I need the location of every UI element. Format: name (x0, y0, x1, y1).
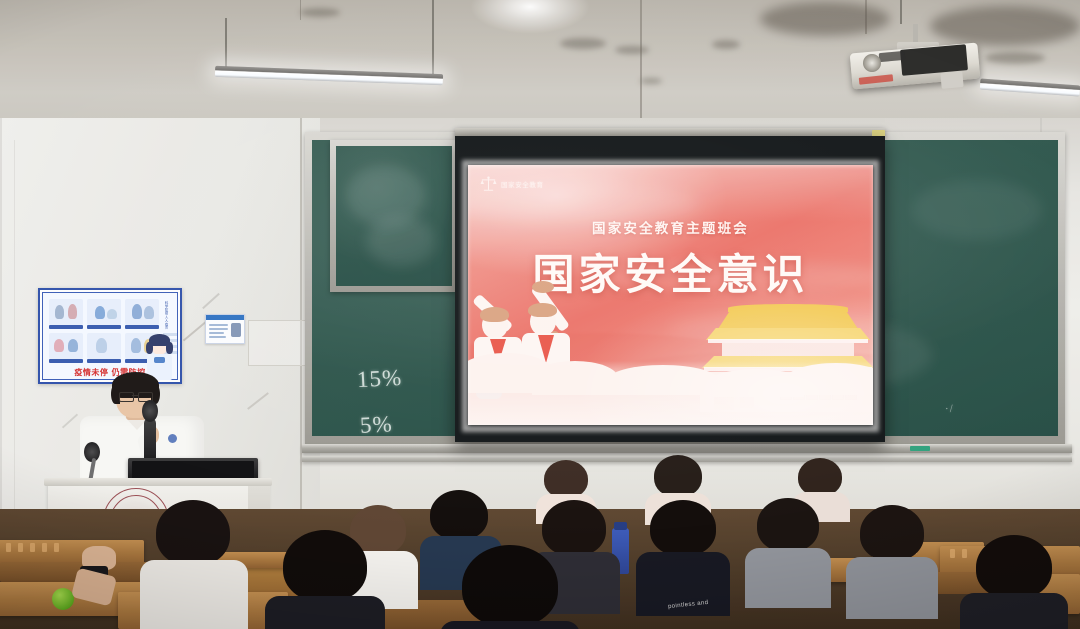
poster-cell (87, 299, 121, 325)
handheld-microphone[interactable] (144, 418, 156, 460)
lamp-rod (225, 18, 227, 72)
notice-line (209, 332, 224, 334)
monitor-screen (132, 461, 254, 479)
presentation-slide: 国家安全教育 国家安全教育主题班会 国家安全意识 (468, 165, 873, 425)
poster-caption (125, 325, 159, 329)
eyeglasses-bridge (132, 395, 138, 396)
student (745, 498, 831, 606)
notice-header (206, 315, 244, 320)
wall-edge (0, 118, 2, 538)
slide-logo: 国家安全教育 (480, 175, 544, 193)
student-head (156, 500, 230, 566)
notice-photo (231, 323, 241, 337)
ceiling-stain (640, 78, 662, 84)
student-head (650, 500, 716, 556)
bench-slat (18, 543, 23, 552)
poster-cell (49, 333, 83, 359)
slide-subtitle: 国家安全教育主题班会 (468, 217, 873, 237)
bench-slat (950, 549, 955, 558)
scales-of-justice-icon (480, 175, 497, 193)
blackboard-panel[interactable] (336, 146, 452, 286)
notice-line (209, 324, 228, 326)
student-head (462, 545, 558, 627)
shirt-logo (168, 434, 177, 443)
chalk-eraser[interactable] (910, 446, 930, 451)
eyeglasses (119, 392, 134, 402)
microphone-head (142, 400, 158, 422)
poster-caption (87, 325, 121, 329)
poster-caption (49, 359, 83, 363)
lamp-rod (432, 0, 434, 78)
projector-bracket (940, 71, 963, 89)
poster-caption (49, 325, 83, 329)
poster-side-note: 科学防疫 人人有责 (163, 301, 168, 329)
lectern-top (44, 478, 272, 486)
student-body (960, 593, 1068, 629)
poster-cell (49, 299, 83, 325)
ceiling-stain (560, 38, 606, 49)
bench-slat (42, 543, 47, 552)
poster-caption (87, 359, 121, 363)
student (960, 535, 1068, 629)
ceiling-projector (845, 24, 995, 104)
student-head (860, 505, 924, 561)
poster-cell (87, 333, 121, 359)
lamp-glow (470, 0, 590, 34)
ceiling-seam (640, 0, 642, 118)
lecture-hall-photo: 15% 5% ·/ (0, 0, 1080, 629)
projector-lens (863, 54, 881, 72)
green-ball[interactable] (52, 588, 74, 610)
ceiling-stain (712, 40, 740, 49)
student-body (140, 560, 248, 629)
wall-edge (14, 140, 15, 520)
student-body (745, 548, 831, 608)
chalk-note: 15% (356, 365, 402, 393)
wall-frame (248, 320, 306, 366)
notice-line (209, 336, 226, 338)
student-head (544, 460, 588, 498)
notice-line (209, 328, 228, 330)
ceiling-stain (615, 46, 649, 54)
lamp-rod (900, 0, 902, 24)
slide-logo-label: 国家安全教育 (501, 179, 544, 189)
student-head (757, 498, 819, 552)
student-head (654, 455, 702, 497)
student-head (430, 490, 488, 540)
bench-slat (30, 543, 35, 552)
student (140, 500, 248, 629)
poster-cell (125, 299, 159, 325)
chalk-mark: ·/ (945, 403, 954, 415)
cloud (532, 361, 618, 395)
student-body (265, 596, 385, 629)
chalk-rail (302, 444, 1072, 453)
bench-slat (6, 543, 11, 552)
student-body (846, 557, 938, 619)
student (265, 530, 385, 629)
student (440, 545, 580, 629)
cloud (608, 365, 718, 395)
student-body (440, 621, 580, 629)
information-notice-card (205, 314, 245, 344)
ceiling-stain (300, 8, 340, 17)
student-head (283, 530, 367, 602)
student-head (976, 535, 1052, 599)
projector-rod (913, 24, 918, 44)
student (636, 500, 730, 612)
student (846, 505, 938, 615)
cloud (786, 363, 873, 395)
bench-slat (54, 543, 59, 552)
chalk-note: 5% (359, 411, 393, 439)
student-head (798, 458, 842, 496)
